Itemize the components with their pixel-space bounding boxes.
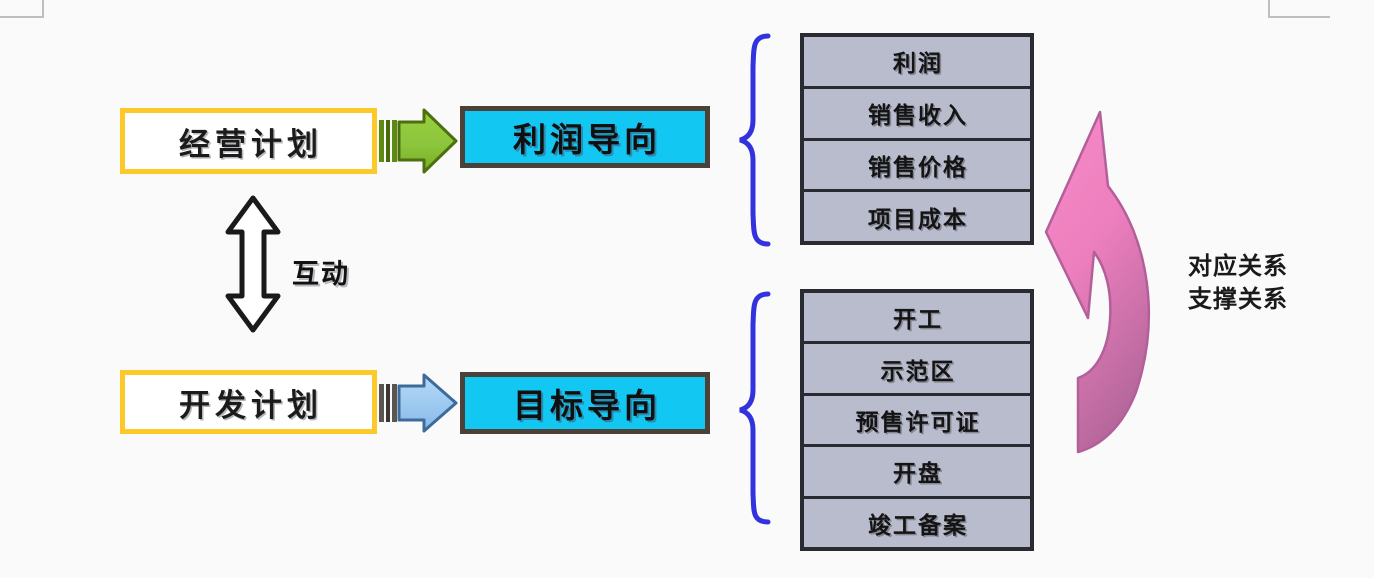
brace-goal-items — [740, 294, 768, 522]
relation-note: 对应关系 支撑关系 — [1168, 250, 1308, 316]
development-plan-label: 开发计划 — [174, 380, 323, 425]
goal-oriented-label: 目标导向 — [509, 379, 661, 427]
crop-mark-top-left — [0, 0, 44, 18]
brace-profit-items — [740, 36, 768, 244]
arrow-business-to-profit — [379, 110, 456, 172]
table-row[interactable]: 竣工备案 — [804, 499, 1030, 547]
profit-item-label: 销售收入 — [866, 96, 968, 130]
development-plan-box[interactable]: 开发计划 — [120, 370, 377, 434]
profit-item-label: 利润 — [891, 44, 943, 78]
goal-item-label: 开工 — [891, 300, 943, 334]
table-row[interactable]: 示范区 — [804, 344, 1030, 395]
double-headed-vertical-arrow — [228, 198, 278, 330]
crop-mark-top-right — [1268, 0, 1330, 18]
table-row[interactable]: 销售收入 — [804, 89, 1030, 141]
profit-oriented-label: 利润导向 — [509, 113, 661, 161]
profit-item-label: 项目成本 — [866, 200, 968, 234]
table-row[interactable]: 预售许可证 — [804, 396, 1030, 447]
arrow-development-to-goal — [379, 375, 456, 431]
diagram-canvas: 经营计划 开发计划 利润导向 目标导向 互动 利润 销售收入 销售价格 项目成本… — [0, 0, 1374, 578]
table-row[interactable]: 利润 — [804, 37, 1030, 89]
profit-item-label: 销售价格 — [866, 148, 968, 182]
table-row[interactable]: 项目成本 — [804, 192, 1030, 241]
relation-note-line-2: 支撑关系 — [1168, 283, 1308, 316]
goal-item-label: 竣工备案 — [866, 506, 968, 540]
table-row[interactable]: 开工 — [804, 293, 1030, 344]
relation-note-line-1: 对应关系 — [1168, 250, 1308, 283]
goal-oriented-box[interactable]: 目标导向 — [460, 372, 710, 434]
business-plan-label: 经营计划 — [174, 119, 323, 164]
goal-item-label: 预售许可证 — [854, 403, 981, 437]
goal-items-table: 开工 示范区 预售许可证 开盘 竣工备案 — [800, 289, 1034, 551]
curved-ribbon-arrow-up — [1046, 112, 1149, 452]
table-row[interactable]: 开盘 — [804, 447, 1030, 498]
table-row[interactable]: 销售价格 — [804, 141, 1030, 193]
profit-oriented-box[interactable]: 利润导向 — [460, 106, 710, 168]
business-plan-box[interactable]: 经营计划 — [120, 108, 377, 174]
profit-items-table: 利润 销售收入 销售价格 项目成本 — [800, 33, 1034, 245]
interaction-label: 互动 — [292, 252, 350, 291]
goal-item-label: 示范区 — [879, 352, 956, 386]
goal-item-label: 开盘 — [891, 454, 943, 488]
